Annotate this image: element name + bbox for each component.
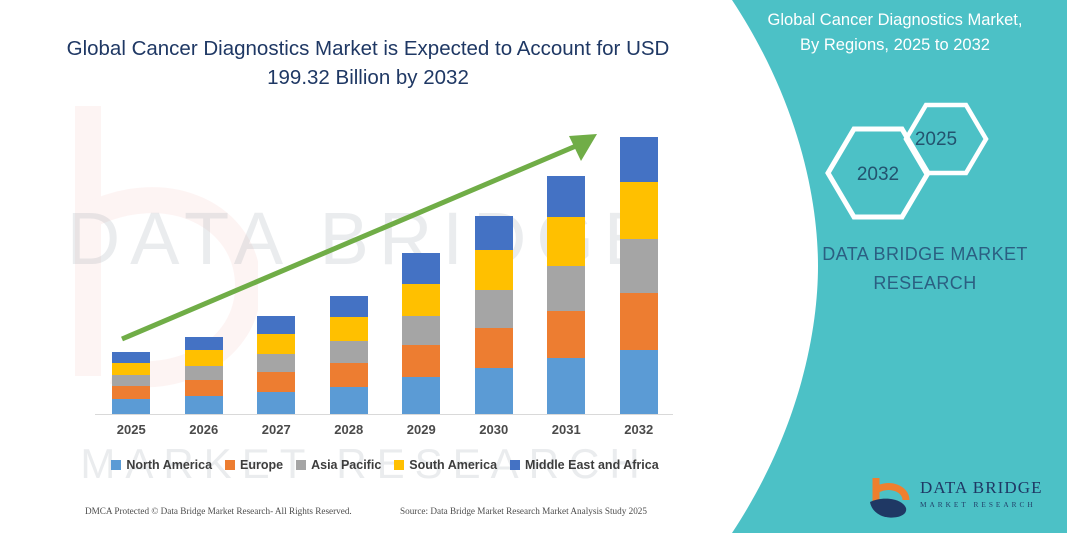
logo-text-main: DATA BRIDGE (920, 478, 1045, 498)
side-panel-title-line1: Global Cancer Diagnostics Market, (735, 8, 1055, 33)
bar-segment (475, 250, 513, 290)
chart-panel: DATA BRIDGE MARKET RESEARCH Global Cance… (0, 0, 735, 533)
side-panel-title: Global Cancer Diagnostics Market, By Reg… (735, 8, 1055, 58)
legend-swatch-icon (225, 460, 235, 470)
bar-chart-plot (95, 120, 675, 414)
bar-segment (112, 352, 150, 363)
bar-segment (547, 358, 585, 414)
bar-column (240, 120, 312, 414)
axis-baseline (95, 414, 673, 415)
x-axis-tick: 2028 (313, 422, 385, 444)
bar-column (385, 120, 457, 414)
bar-segment (547, 266, 585, 311)
bar-column (313, 120, 385, 414)
bar-column (168, 120, 240, 414)
bar-segment (112, 399, 150, 414)
bar-segment (402, 316, 440, 345)
bar-segment (330, 296, 368, 317)
bar-segment (547, 311, 585, 358)
bar-segment (620, 350, 658, 414)
side-panel-brand-line2: RESEARCH (760, 269, 1067, 298)
x-axis-tick: 2025 (95, 422, 167, 444)
bar-segment (330, 363, 368, 387)
bar-segment (257, 392, 295, 414)
side-panel-brand-line1: DATA BRIDGE MARKET (760, 240, 1067, 269)
x-axis-tick: 2032 (603, 422, 675, 444)
chart-title: Global Cancer Diagnostics Market is Expe… (60, 34, 676, 92)
bar-segment (620, 293, 658, 350)
stacked-bar (620, 137, 658, 414)
logo-text: DATA BRIDGE MARKET RESEARCH (920, 478, 1045, 509)
bar-segment (185, 380, 223, 396)
bar-segment (257, 316, 295, 334)
legend-item[interactable]: South America (394, 458, 497, 472)
legend-item[interactable]: Asia Pacific (296, 458, 381, 472)
stacked-bar (330, 296, 368, 414)
x-axis-tick: 2026 (168, 422, 240, 444)
bar-segment (402, 345, 440, 377)
bar-segment (620, 137, 658, 182)
side-panel-brand: DATA BRIDGE MARKET RESEARCH (760, 240, 1067, 298)
x-axis-tick: 2031 (530, 422, 602, 444)
bar-segment (475, 368, 513, 414)
bar-segment (547, 176, 585, 217)
bar-column (530, 120, 602, 414)
bar-segment (257, 372, 295, 392)
bar-segment (620, 182, 658, 239)
legend-swatch-icon (510, 460, 520, 470)
bar-segment (112, 386, 150, 399)
bar-segment (185, 337, 223, 350)
bar-column (458, 120, 530, 414)
footer: DMCA Protected © Data Bridge Market Rese… (0, 506, 720, 526)
bar-segment (475, 216, 513, 250)
logo-text-sub: MARKET RESEARCH (920, 500, 1045, 509)
legend-swatch-icon (111, 460, 121, 470)
infographic-canvas: DATA BRIDGE MARKET RESEARCH Global Cance… (0, 0, 1067, 533)
bar-segment (402, 284, 440, 316)
x-axis-tick: 2029 (385, 422, 457, 444)
x-axis-tick: 2027 (240, 422, 312, 444)
legend-label: Europe (240, 458, 283, 472)
hex-small-label: 2025 (915, 129, 957, 150)
hexagon-group: 2025 2032 (810, 95, 1010, 230)
bar-segment (620, 239, 658, 293)
chart-legend: North AmericaEuropeAsia PacificSouth Ame… (95, 455, 675, 475)
bar-segment (475, 290, 513, 328)
stacked-bar (547, 176, 585, 414)
x-axis-tick: 2030 (458, 422, 530, 444)
bar-column (603, 120, 675, 414)
brand-logo: DATA BRIDGE MARKET RESEARCH (868, 474, 1043, 522)
hexagons-icon: 2025 2032 (810, 95, 1010, 230)
bar-segment (547, 217, 585, 266)
x-axis-labels: 20252026202720282029203020312032 (95, 422, 675, 444)
legend-item[interactable]: North America (111, 458, 212, 472)
bar-segment (402, 253, 440, 284)
legend-label: South America (409, 458, 497, 472)
stacked-bar (475, 216, 513, 414)
hex-large-label: 2032 (857, 164, 899, 185)
bar-segment (112, 375, 150, 386)
bar-segment (330, 317, 368, 341)
bar-segment (185, 366, 223, 380)
data-bridge-logo-icon (868, 476, 914, 520)
bar-segment (185, 396, 223, 414)
legend-item[interactable]: Middle East and Africa (510, 458, 659, 472)
footer-source: Source: Data Bridge Market Research Mark… (400, 506, 647, 516)
stacked-bar (112, 352, 150, 414)
legend-item[interactable]: Europe (225, 458, 283, 472)
legend-label: Middle East and Africa (525, 458, 659, 472)
bar-segment (330, 341, 368, 363)
stacked-bar (402, 253, 440, 414)
stacked-bar (257, 316, 295, 414)
bar-segment (112, 363, 150, 375)
bar-segment (475, 328, 513, 368)
bar-segment (330, 387, 368, 414)
bar-column (95, 120, 167, 414)
bar-segment (402, 377, 440, 414)
footer-copyright: DMCA Protected © Data Bridge Market Rese… (85, 506, 352, 516)
legend-label: North America (126, 458, 212, 472)
bar-segment (185, 350, 223, 366)
legend-swatch-icon (394, 460, 404, 470)
bar-segment (257, 334, 295, 354)
bar-segment (257, 354, 295, 372)
stacked-bar (185, 337, 223, 414)
legend-swatch-icon (296, 460, 306, 470)
legend-label: Asia Pacific (311, 458, 381, 472)
side-panel-title-line2: By Regions, 2025 to 2032 (735, 33, 1055, 58)
